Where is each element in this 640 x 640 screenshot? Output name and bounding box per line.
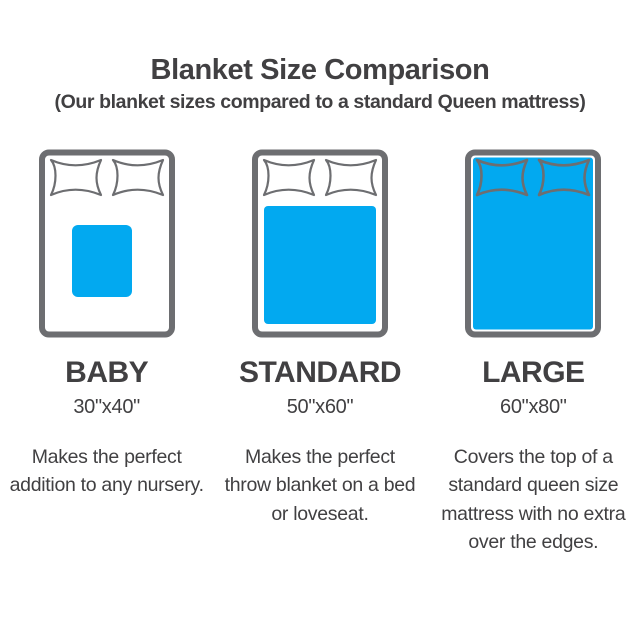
column-standard: STANDARD 50"x60" Makes the perfect throw… xyxy=(213,146,426,556)
column-large: LARGE 60"x80" Covers the top of a standa… xyxy=(427,146,640,556)
size-dimensions-large: 60"x80" xyxy=(500,397,567,417)
blanket-shape-large xyxy=(473,158,593,330)
page-subtitle: (Our blanket sizes compared to a standar… xyxy=(0,91,640,113)
bed-top-view-icon xyxy=(252,146,388,338)
size-dimensions-standard: 50"x60" xyxy=(287,397,354,417)
comparison-columns: BABY 30"x40" Makes the perfect addition … xyxy=(0,146,640,556)
pillow-left-icon xyxy=(51,160,101,195)
column-baby: BABY 30"x40" Makes the perfect addition … xyxy=(0,146,213,556)
blanket-shape-baby xyxy=(72,225,132,297)
pillow-left-icon xyxy=(264,160,314,195)
blanket-shape-standard xyxy=(264,206,376,324)
size-description-baby: Makes the perfect addition to any nurser… xyxy=(9,443,205,500)
pillow-right-icon xyxy=(113,160,163,195)
size-name-standard: STANDARD xyxy=(239,358,401,388)
bed-top-view-icon xyxy=(465,146,601,338)
bed-top-view-icon xyxy=(39,146,175,338)
bed-diagram-standard xyxy=(252,146,388,338)
pillow-right-icon xyxy=(326,160,376,195)
page-title: Blanket Size Comparison xyxy=(0,54,640,86)
size-description-standard: Makes the perfect throw blanket on a bed… xyxy=(222,443,418,528)
size-name-large: LARGE xyxy=(482,358,585,388)
header: Blanket Size Comparison (Our blanket siz… xyxy=(0,54,640,114)
size-description-large: Covers the top of a standard queen size … xyxy=(435,443,631,556)
bed-diagram-baby xyxy=(39,146,175,338)
size-dimensions-baby: 30"x40" xyxy=(73,397,140,417)
bed-diagram-large xyxy=(465,146,601,338)
size-name-baby: BABY xyxy=(65,358,148,388)
blanket-size-comparison-infographic: Blanket Size Comparison (Our blanket siz… xyxy=(0,0,640,640)
